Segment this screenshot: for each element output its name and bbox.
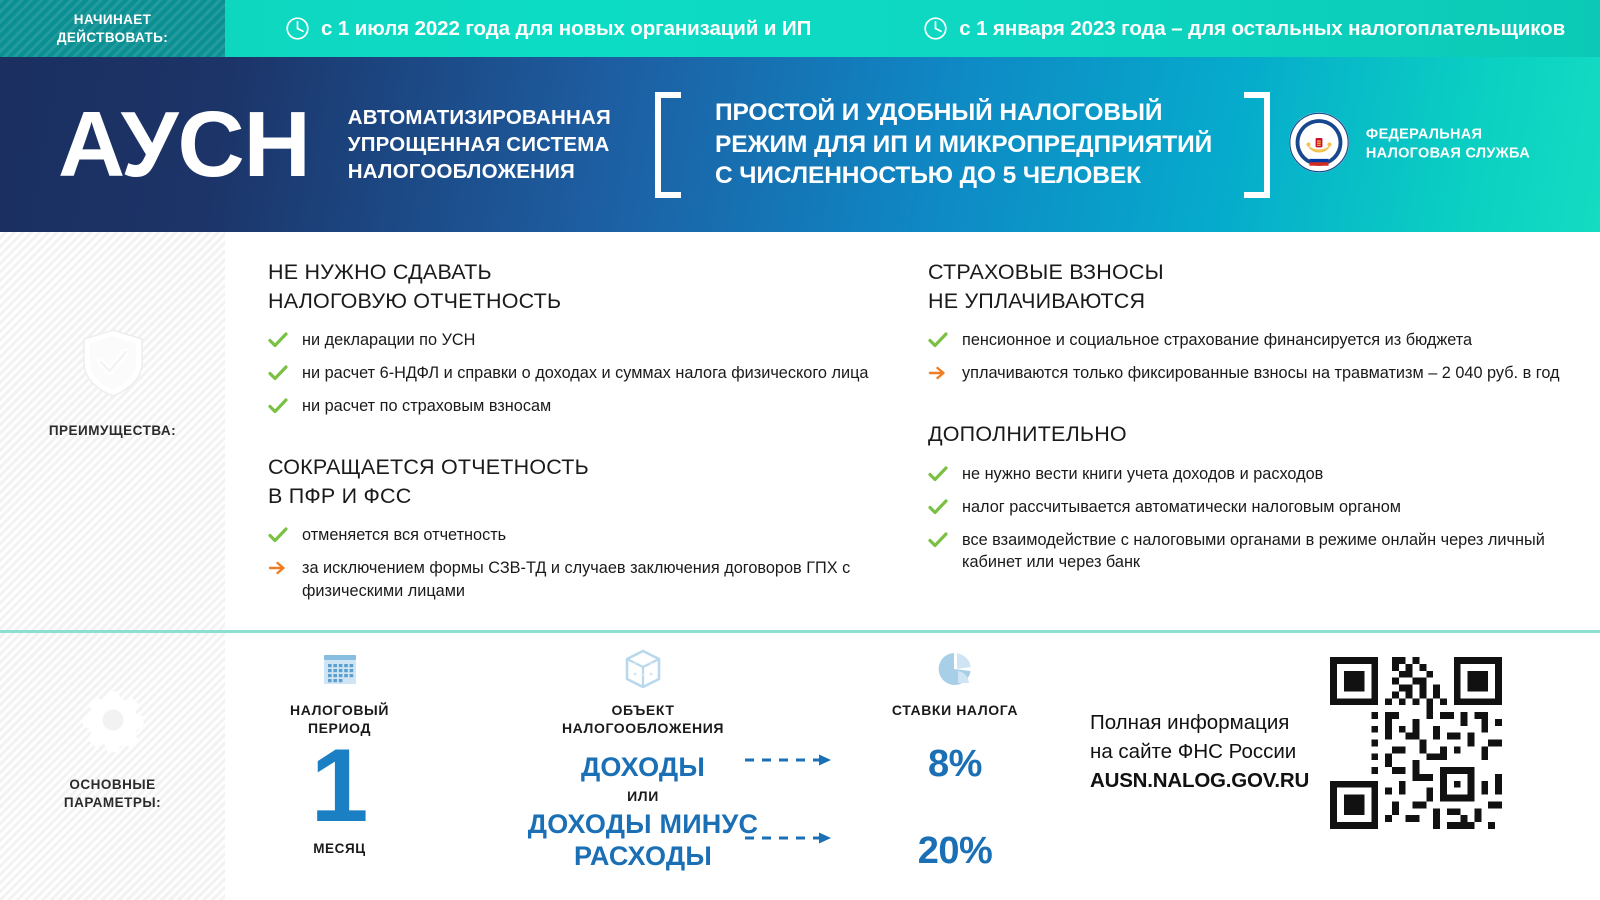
calendar-icon [321,647,359,691]
more-info-line1: Полная информация [1090,708,1309,737]
start-date-text-new-orgs: с 1 июля 2022 года для новых организаций… [321,17,811,41]
check-icon [268,395,302,419]
taxation-object-option-2-line2: РАСХОДЫ [528,840,758,872]
list-item: отменяется вся отчетность [268,524,928,548]
taxation-object-option-2-line1: ДОХОДЫ МИНУС [528,808,758,840]
top-bar-label-line1: НАЧИНАЕТ [74,11,152,28]
more-info-line2: на сайте ФНС России [1090,737,1309,766]
header-tagline-line3: С ЧИСЛЕННОСТЬЮ ДО 5 ЧЕЛОВЕК [715,160,1212,192]
fns-label: ФЕДЕРАЛЬНАЯ НАЛОГОВАЯ СЛУЖБА [1366,125,1530,164]
more-info-block: Полная информация на сайте ФНС России AU… [1090,708,1309,795]
list-item-text: уплачиваются только фиксированные взносы… [962,362,1560,384]
top-bar-items: с 1 июля 2022 года для новых организаций… [225,0,1600,57]
parameter-unit-tax-period: МЕСЯЦ [313,841,366,856]
top-bar-label-line2: ДЕЙСТВОВАТЬ: [57,29,168,46]
list-item: не нужно вести книги учета доходов и рас… [928,463,1588,487]
list-item: уплачиваются только фиксированные взносы… [928,362,1588,386]
block-list: отменяется вся отчетность за исключением… [268,524,928,601]
list-item-text: ни декларации по УСН [302,329,475,351]
list-item-text: ни расчет 6-НДФЛ и справки о доходах и с… [302,362,869,384]
block-title-line2: В ПФР И ФСС [268,482,928,511]
block-title: СТРАХОВЫЕ ВЗНОСЫ НЕ УПЛАЧИВАЮТСЯ [928,258,1588,315]
parameter-label-tax-rates: СТАВКИ НАЛОГА [892,701,1018,719]
clock-icon [285,16,310,41]
header-banner: АУСН АВТОМАТИЗИРОВАННАЯ УПРОЩЕННАЯ СИСТЕ… [0,57,1600,232]
list-item: пенсионное и социальное страхование фина… [928,329,1588,353]
list-item: налог рассчитывается автоматически налог… [928,496,1588,520]
top-bar: НАЧИНАЕТ ДЕЙСТВОВАТЬ: с 1 июля 2022 года… [0,0,1600,57]
parameter-tax-rates: СТАВКИ НАЛОГА 8% 20% [860,647,1050,873]
list-item: ни расчет 6-НДФЛ и справки о доходах и с… [268,362,928,386]
list-item: все взаимодействие с налоговыми органами… [928,529,1588,573]
block-title: НЕ НУЖНО СДАВАТЬ НАЛОГОВУЮ ОТЧЕТНОСТЬ [268,258,928,315]
start-date-item-others: с 1 января 2023 года – для остальных нал… [923,16,1565,41]
tagline-group: ПРОСТОЙ И УДОБНЫЙ НАЛОГОВЫЙ РЕЖИМ ДЛЯ ИП… [655,92,1270,198]
block-insurance-contributions: СТРАХОВЫЕ ВЗНОСЫ НЕ УПЛАЧИВАЮТСЯ пенсион… [928,258,1588,386]
taxation-object-conjunction: ИЛИ [627,788,659,804]
block-title-line1: СТРАХОВЫЕ ВЗНОСЫ [928,258,1588,287]
parameter-label-line2: НАЛОГООБЛОЖЕНИЯ [562,719,724,737]
block-title: СОКРАЩАЕТСЯ ОТЧЕТНОСТЬ В ПФР И ФСС [268,453,928,510]
infographic-page: НАЧИНАЕТ ДЕЙСТВОВАТЬ: с 1 июля 2022 года… [0,0,1600,900]
page-title: АУСН [58,104,310,186]
check-icon [928,529,962,553]
gear-icon [80,687,146,758]
block-list: пенсионное и социальное страхование фина… [928,329,1588,386]
fns-label-line1: ФЕДЕРАЛЬНАЯ [1366,125,1530,144]
block-title: ДОПОЛНИТЕЛЬНО [928,420,1588,449]
header-subtitle-line1: АВТОМАТИЗИРОВАННАЯ [348,104,611,131]
header-subtitle-line2: УПРОЩЕННАЯ СИСТЕМА [348,131,611,158]
pie-chart-icon [935,647,975,691]
block-title-line1: НЕ НУЖНО СДАВАТЬ [268,258,928,287]
check-icon [928,329,962,353]
list-item-text: все взаимодействие с налоговыми органами… [962,529,1577,573]
fns-emblem-icon [1288,111,1350,178]
sidebar-item-advantages: ПРЕИМУЩЕСТВА: [0,327,225,440]
block-reduced-reporting: СОКРАЩАЕТСЯ ОТЧЕТНОСТЬ В ПФР И ФСС отмен… [268,453,928,602]
block-title-line1: СОКРАЩАЕТСЯ ОТЧЕТНОСТЬ [268,453,928,482]
list-item-text: налог рассчитывается автоматически налог… [962,496,1401,518]
parameter-tax-period: НАЛОГОВЫЙ ПЕРИОД 1 МЕСЯЦ [247,647,432,856]
list-item: за исключением формы СЗВ-ТД и случаев за… [268,557,928,601]
check-icon [268,362,302,386]
qr-code[interactable] [1330,657,1502,834]
taxation-object-option-2: ДОХОДЫ МИНУС РАСХОДЫ [528,808,758,873]
parameter-label-line1: НАЛОГОВЫЙ [290,701,389,719]
fns-label-line2: НАЛОГОВАЯ СЛУЖБА [1366,145,1530,164]
block-title-line2: НАЛОГОВУЮ ОТЧЕТНОСТЬ [268,287,928,316]
sidebar-item-parameters: ОСНОВНЫЕ ПАРАМЕТРЫ: [0,687,225,811]
fns-logo: ФЕДЕРАЛЬНАЯ НАЛОГОВАЯ СЛУЖБА [1288,111,1530,178]
parameter-label-line1: ОБЪЕКТ [562,701,724,719]
tax-rate-1: 8% [928,743,982,786]
cube-icon [623,647,663,691]
arrow-right-icon [928,362,962,386]
parameter-label-taxation-object: ОБЪЕКТ НАЛОГООБЛОЖЕНИЯ [562,701,724,737]
arrow-right-icon [268,557,302,581]
list-item-text: за исключением формы СЗВ-ТД и случаев за… [302,557,892,601]
block-title-line1: ДОПОЛНИТЕЛЬНО [928,420,1588,449]
parameter-value-tax-period: 1 [311,739,369,835]
list-item-text: ни расчет по страховым взносам [302,395,551,417]
taxation-object-option-1: ДОХОДЫ [581,751,705,783]
advantages-column-right: СТРАХОВЫЕ ВЗНОСЫ НЕ УПЛАЧИВАЮТСЯ пенсион… [928,258,1588,636]
bracket-right-icon [1244,92,1270,198]
bracket-left-icon [655,92,681,198]
dashed-arrow-icon [743,831,839,850]
list-item-text: отменяется вся отчетность [302,524,506,546]
sidebar-label-advantages: ПРЕИМУЩЕСТВА: [49,422,176,440]
block-additional: ДОПОЛНИТЕЛЬНО не нужно вести книги учета… [928,420,1588,573]
block-list: ни декларации по УСН ни расчет 6-НДФЛ и … [268,329,928,419]
tax-rate-2: 20% [918,830,993,873]
sidebar-label-parameters-line1: ОСНОВНЫЕ [64,776,161,794]
header-tagline-line2: РЕЖИМ ДЛЯ ИП И МИКРОПРЕДПРИЯТИЙ [715,129,1212,161]
shield-check-icon [80,327,146,404]
advantages-columns: НЕ НУЖНО СДАВАТЬ НАЛОГОВУЮ ОТЧЕТНОСТЬ ни… [268,258,1588,636]
check-icon [268,329,302,353]
check-icon [268,524,302,548]
header-tagline-line1: ПРОСТОЙ И УДОБНЫЙ НАЛОГОВЫЙ [715,97,1212,129]
header-subtitle: АВТОМАТИЗИРОВАННАЯ УПРОЩЕННАЯ СИСТЕМА НА… [348,104,611,185]
clock-icon [923,16,948,41]
check-icon [928,463,962,487]
top-bar-label: НАЧИНАЕТ ДЕЙСТВОВАТЬ: [0,0,225,57]
list-item-text: пенсионное и социальное страхование фина… [962,329,1472,351]
parameters-section: НАЛОГОВЫЙ ПЕРИОД 1 МЕСЯЦ ОБЪЕ [225,633,1600,900]
sidebar: ПРЕИМУЩЕСТВА: ОСНОВНЫЕ ПАРАМЕТРЫ: [0,232,225,900]
start-date-item-new-orgs: с 1 июля 2022 года для новых организаций… [285,16,811,41]
sidebar-label-parameters: ОСНОВНЫЕ ПАРАМЕТРЫ: [64,776,161,811]
check-icon [928,496,962,520]
website-url[interactable]: AUSN.NALOG.GOV.RU [1090,766,1309,795]
list-item-text: не нужно вести книги учета доходов и рас… [962,463,1323,485]
header-tagline: ПРОСТОЙ И УДОБНЫЙ НАЛОГОВЫЙ РЕЖИМ ДЛЯ ИП… [715,97,1212,193]
advantages-content: НЕ НУЖНО СДАВАТЬ НАЛОГОВУЮ ОТЧЕТНОСТЬ ни… [225,232,1600,630]
block-title-line2: НЕ УПЛАЧИВАЮТСЯ [928,287,1588,316]
start-date-text-others: с 1 января 2023 года – для остальных нал… [959,17,1565,41]
sidebar-label-parameters-line2: ПАРАМЕТРЫ: [64,794,161,812]
list-item: ни расчет по страховым взносам [268,395,928,419]
dashed-arrow-icon [743,753,839,772]
advantages-column-left: НЕ НУЖНО СДАВАТЬ НАЛОГОВУЮ ОТЧЕТНОСТЬ ни… [268,258,928,636]
header-subtitle-line3: НАЛОГООБЛОЖЕНИЯ [348,158,611,185]
block-no-reporting: НЕ НУЖНО СДАВАТЬ НАЛОГОВУЮ ОТЧЕТНОСТЬ ни… [268,258,928,419]
list-item: ни декларации по УСН [268,329,928,353]
block-list: не нужно вести книги учета доходов и рас… [928,463,1588,573]
